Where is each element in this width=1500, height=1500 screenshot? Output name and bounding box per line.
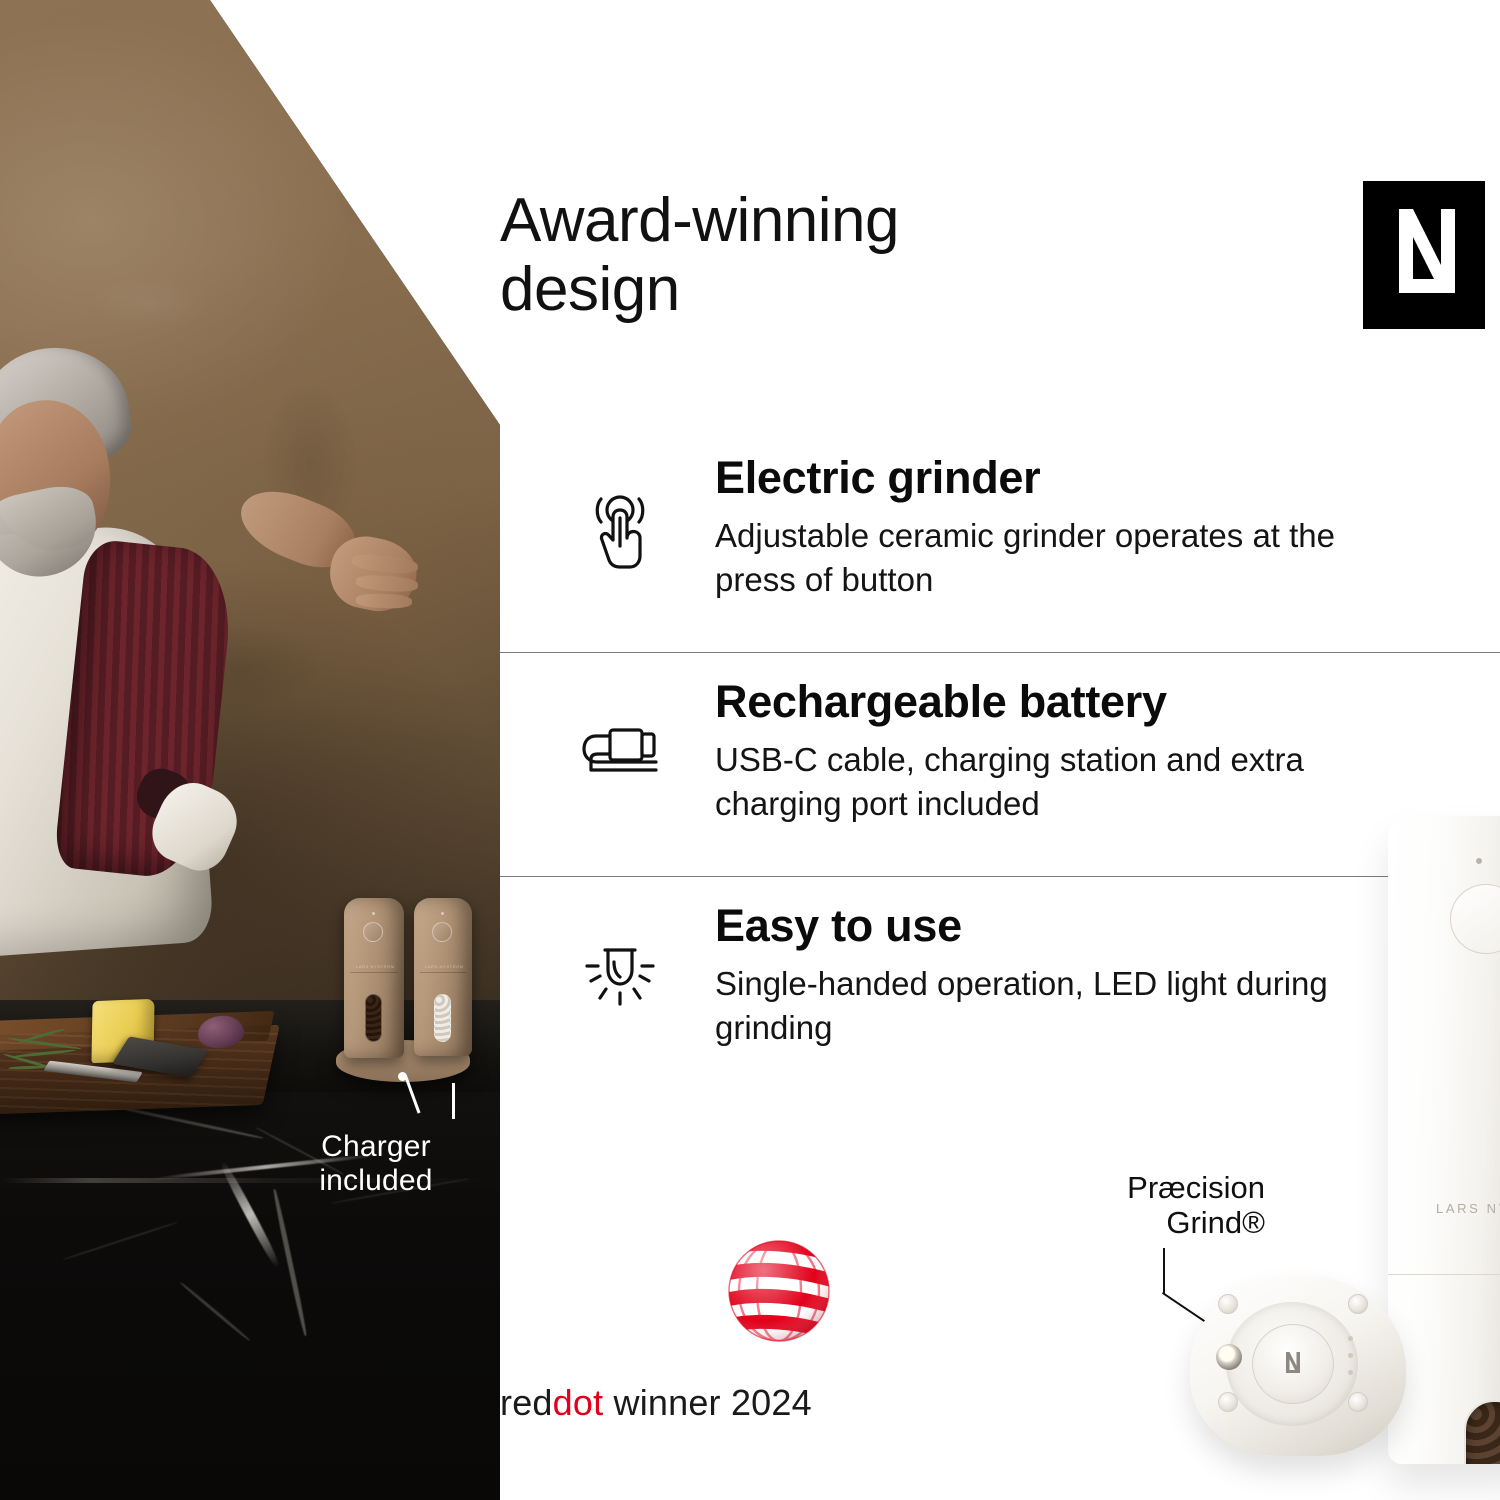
grinder-pepper-window <box>1464 1400 1500 1464</box>
grinder-base-body <box>1190 1276 1406 1456</box>
feature-rechargeable-battery: Rechargeable battery USB-C cable, chargi… <box>500 676 1500 876</box>
base-screw <box>1348 1392 1368 1412</box>
content-panel: Award-winning design <box>500 0 1500 1500</box>
reddot-award-text: reddot winner 2024 <box>500 1382 880 1424</box>
base-screw <box>1348 1294 1368 1314</box>
feature-description: Single-handed operation, LED light durin… <box>715 962 1415 1050</box>
grinder-base-led <box>1216 1344 1242 1370</box>
grind-adjustment-dial[interactable] <box>1252 1324 1334 1404</box>
precision-grind-line1: Præcision <box>1065 1170 1265 1205</box>
reddot-red-word: red <box>500 1382 553 1423</box>
precision-grind-line2: Grind® <box>1065 1205 1265 1240</box>
grinder-brand-text: LARS NYS <box>1436 1201 1500 1216</box>
precision-grind-callout: Præcision Grind® <box>1065 1170 1265 1241</box>
base-screw <box>1218 1392 1238 1412</box>
person-figure <box>0 330 320 1090</box>
reddot-dot-word: dot <box>553 1382 604 1423</box>
feature-description: Adjustable ceramic grinder operates at t… <box>715 514 1415 602</box>
product-grinder-base <box>1190 1276 1406 1476</box>
feature-divider <box>500 652 1500 653</box>
feature-description: USB-C cable, charging station and extra … <box>715 738 1415 826</box>
base-screw <box>1218 1294 1238 1314</box>
feature-easy-to-use: Easy to use Single-handed operation, LED… <box>500 900 1500 1100</box>
usb-c-plug-icon <box>578 712 662 796</box>
reddot-sphere-logo <box>726 1238 832 1344</box>
reddot-winner-year: winner 2024 <box>603 1382 812 1423</box>
feature-title: Rechargeable battery <box>715 676 1167 728</box>
charger-leader-line-vertical <box>452 1083 455 1119</box>
grinder-power-button <box>1450 884 1500 954</box>
brand-logo <box>1363 181 1485 329</box>
feature-divider <box>500 876 1500 877</box>
grinder-led-indicator <box>1476 858 1482 864</box>
feature-title: Electric grinder <box>715 452 1040 504</box>
feature-title: Easy to use <box>715 900 962 952</box>
lifestyle-photo: LARS NYSTRÖM LARS NYSTRÖM Charger includ… <box>0 0 500 1500</box>
pepper-grinder-tan: LARS NYSTRÖM <box>344 898 404 1058</box>
tap-press-hand-icon <box>578 488 662 572</box>
salt-grinder-tan: LARS NYSTRÖM <box>414 898 472 1056</box>
charger-included-callout: Charger included <box>276 1130 476 1197</box>
product-infographic: LARS NYSTRÖM LARS NYSTRÖM Charger includ… <box>0 0 1500 1500</box>
grinder-seam <box>1388 1274 1500 1275</box>
feature-electric-grinder: Electric grinder Adjustable ceramic grin… <box>500 452 1500 652</box>
grind-setting-dots <box>1348 1336 1353 1387</box>
page-title: Award-winning design <box>500 186 1140 325</box>
precision-leader-vertical <box>1163 1248 1165 1294</box>
led-light-icon <box>578 936 662 1020</box>
